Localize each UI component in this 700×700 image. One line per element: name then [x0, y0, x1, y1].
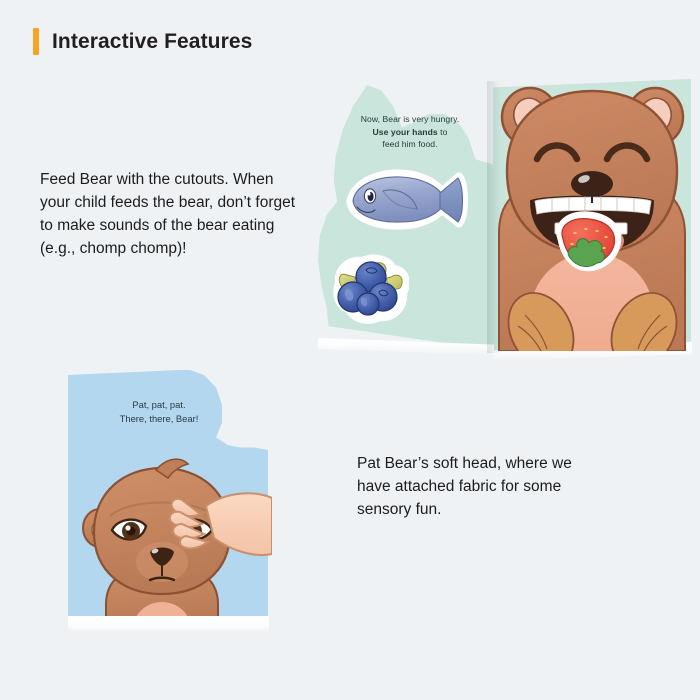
- board-page-edge: [68, 616, 269, 632]
- caption-bold-phrase: Use your hands: [373, 127, 438, 137]
- caption-line-1: Now, Bear is very hungry.: [361, 114, 460, 124]
- figure-hungry-bear-spread: Now, Bear is very hungry. Use your hands…: [305, 75, 700, 360]
- page-title: Interactive Features: [52, 28, 252, 55]
- blueberries-sticker: [333, 253, 409, 325]
- caption-line-1: Pat, pat, pat.: [132, 399, 185, 410]
- accent-bar-icon: [33, 28, 39, 55]
- figure-pat-caption: Pat, pat, pat. There, there, Bear!: [84, 398, 234, 425]
- paragraph-feed-bear: Feed Bear with the cutouts. When your ch…: [40, 168, 300, 260]
- fish-sticker: [343, 165, 471, 233]
- caption-line-2: There, there, Bear!: [120, 413, 199, 424]
- section-header: Interactive Features: [33, 28, 252, 55]
- caption-line-2-tail: to: [438, 127, 448, 137]
- paragraph-pat-bear: Pat Bear’s soft head, where we have atta…: [357, 452, 602, 521]
- page-root: Interactive Features Feed Bear with the …: [0, 0, 700, 700]
- bear-sad-illustration: [76, 454, 272, 622]
- caption-line-3: feed him food.: [382, 139, 437, 149]
- figure-hungry-caption: Now, Bear is very hungry. Use your hands…: [335, 113, 485, 151]
- bear-happy-illustration: [497, 83, 687, 351]
- figure-pat-bear-page: Pat, pat, pat. There, there, Bear!: [62, 368, 284, 633]
